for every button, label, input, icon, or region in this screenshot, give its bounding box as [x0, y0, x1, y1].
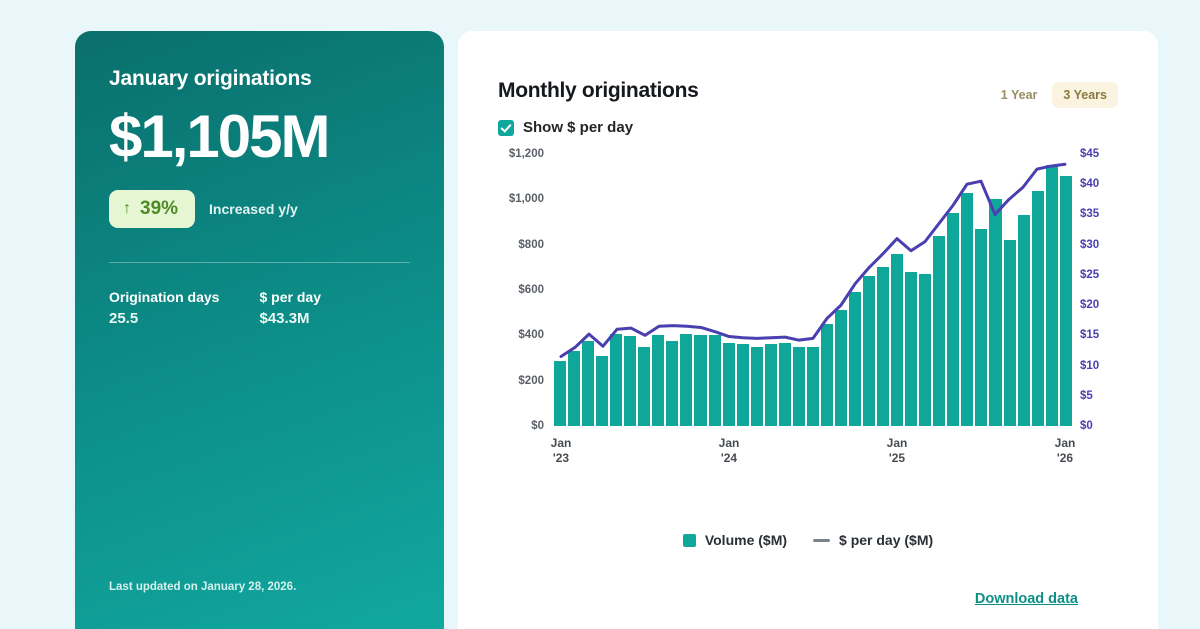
arrow-up-icon: ↑	[123, 201, 131, 217]
chart-plot-wrapper: $0$200$400$600$800$1,000$1,200 $0$5$10$1…	[498, 154, 1118, 454]
y-axis-right-tick: $35	[1080, 208, 1099, 220]
range-toggle[interactable]: 1 Year 3 Years	[990, 82, 1118, 108]
card-divider	[109, 262, 410, 263]
y-axis-right-tick: $20	[1080, 299, 1099, 311]
sub-stat-label: Origination days	[109, 289, 260, 305]
download-data-link[interactable]: Download data	[975, 591, 1078, 607]
x-axis-tick: Jan '25	[887, 436, 908, 466]
range-option-3-years[interactable]: 3 Years	[1052, 82, 1118, 108]
chart-header: Monthly originations 1 Year 3 Years	[498, 79, 1118, 108]
legend-label: $ per day ($M)	[839, 532, 933, 548]
last-updated-text: Last updated on January 28, 2026.	[109, 581, 296, 593]
sub-stat-value: $43.3M	[260, 310, 411, 327]
y-axis-right-tick: $25	[1080, 269, 1099, 281]
y-axis-left: $0$200$400$600$800$1,000$1,200	[498, 154, 550, 426]
show-per-day-checkbox-row[interactable]: Show $ per day	[498, 119, 1118, 136]
legend-item-volume: Volume ($M)	[683, 532, 787, 548]
y-axis-right-tick: $10	[1080, 360, 1099, 372]
y-axis-right-tick: $40	[1080, 178, 1099, 190]
january-originations-card: January originations $1,105M ↑ 39% Incre…	[75, 31, 444, 629]
y-axis-right-tick: $5	[1080, 390, 1093, 402]
range-option-1-year[interactable]: 1 Year	[990, 82, 1049, 108]
monthly-originations-panel: Monthly originations 1 Year 3 Years Show…	[458, 31, 1158, 629]
chart-legend: Volume ($M) $ per day ($M)	[498, 532, 1118, 548]
x-axis-tick: Jan '26	[1055, 436, 1076, 466]
line-series-per-day	[554, 154, 1072, 426]
sub-stat-per-day: $ per day $43.3M	[260, 289, 411, 327]
y-axis-left-tick: $200	[518, 375, 544, 387]
y-axis-right-tick: $15	[1080, 329, 1099, 341]
y-axis-right-tick: $30	[1080, 239, 1099, 251]
x-axis-tick: Jan '23	[551, 436, 572, 466]
y-axis-right-tick: $0	[1080, 420, 1093, 432]
legend-line-icon	[813, 539, 830, 542]
checkbox-checked-icon[interactable]	[498, 120, 514, 136]
delta-description: Increased y/y	[209, 201, 298, 217]
checkbox-label[interactable]: Show $ per day	[523, 119, 633, 136]
sub-stat-value: 25.5	[109, 310, 260, 327]
legend-label: Volume ($M)	[705, 532, 787, 548]
dashboard-root: January originations $1,105M ↑ 39% Incre…	[0, 0, 1200, 629]
delta-percent: 39%	[140, 198, 178, 220]
y-axis-left-tick: $1,200	[509, 148, 544, 160]
y-axis-left-tick: $600	[518, 284, 544, 296]
stat-card-title: January originations	[109, 67, 410, 91]
sub-stat-origination-days: Origination days 25.5	[109, 289, 260, 327]
stat-card-value: $1,105M	[109, 105, 410, 168]
y-axis-right: $0$5$10$15$20$25$30$35$40$45	[1076, 154, 1118, 426]
y-axis-right-tick: $45	[1080, 148, 1099, 160]
x-axis-tick: Jan '24	[719, 436, 740, 466]
delta-row: ↑ 39% Increased y/y	[109, 190, 410, 228]
sub-stats: Origination days 25.5 $ per day $43.3M	[109, 289, 410, 327]
yoy-change-badge: ↑ 39%	[109, 190, 195, 228]
legend-square-icon	[683, 534, 696, 547]
y-axis-left-tick: $800	[518, 239, 544, 251]
y-axis-left-tick: $1,000	[509, 193, 544, 205]
y-axis-left-tick: $0	[531, 420, 544, 432]
sub-stat-label: $ per day	[260, 289, 411, 305]
plot-area	[554, 154, 1072, 426]
chart-title: Monthly originations	[498, 79, 698, 103]
x-axis: Jan '23Jan '24Jan '25Jan '26	[554, 436, 1072, 476]
legend-item-per-day: $ per day ($M)	[813, 532, 933, 548]
y-axis-left-tick: $400	[518, 329, 544, 341]
